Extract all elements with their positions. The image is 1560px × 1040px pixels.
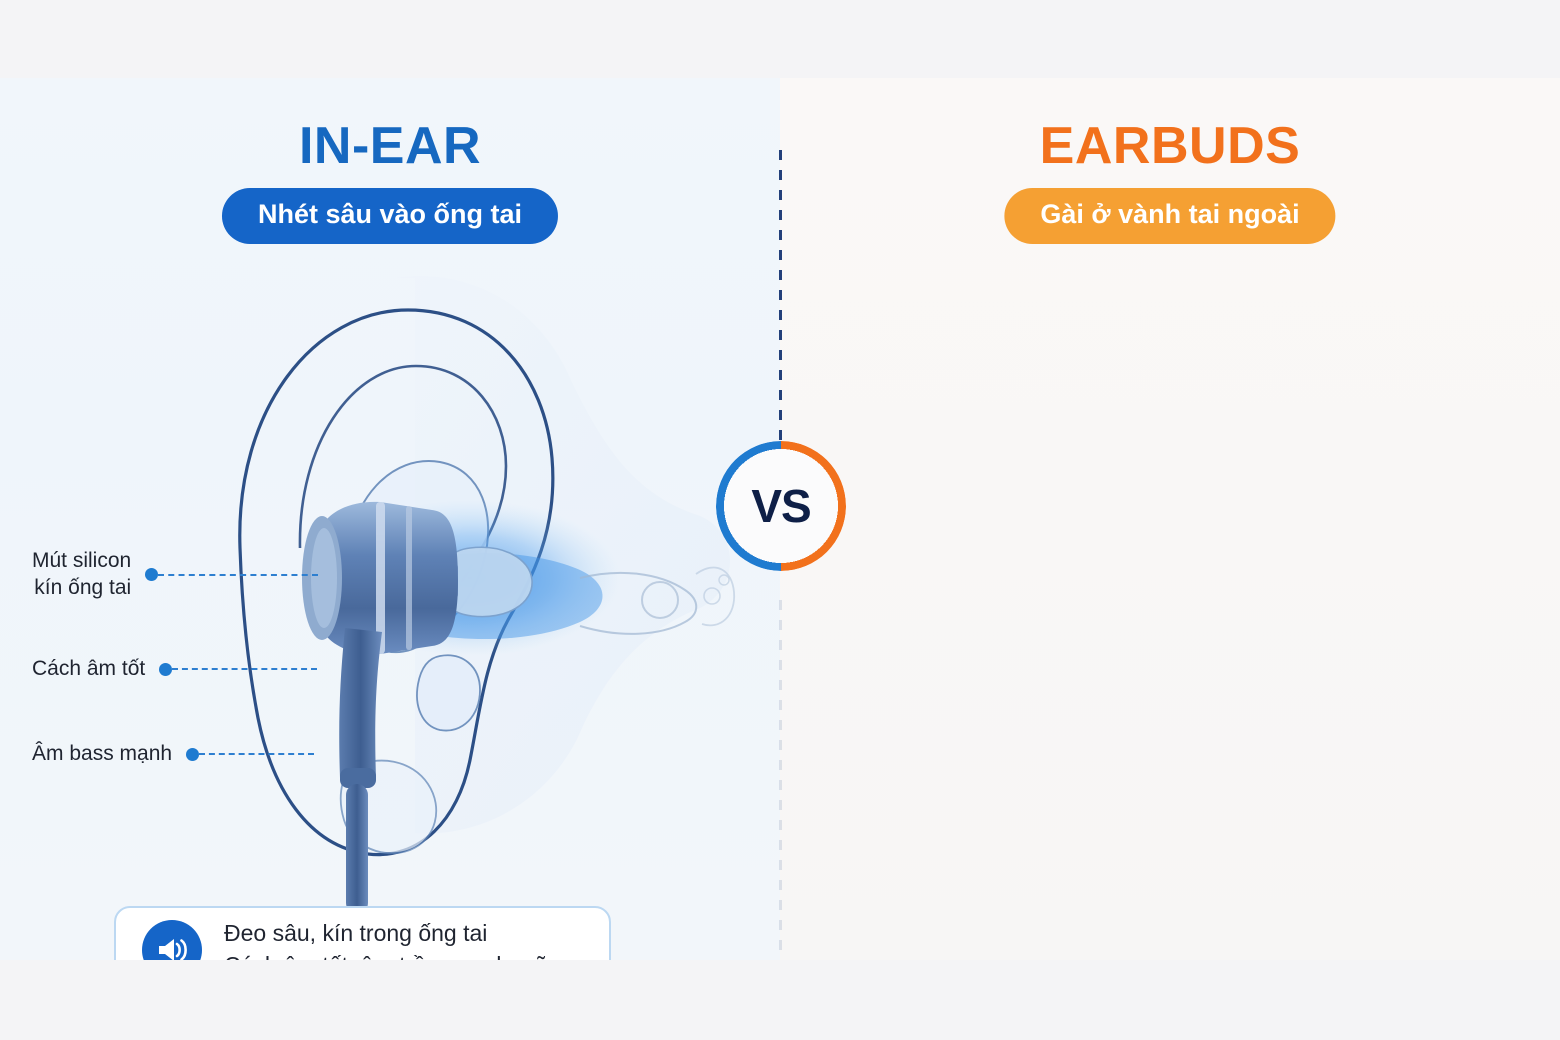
callout-leader-line xyxy=(172,668,317,670)
page-title-earbuds: EARBUDS xyxy=(780,120,1560,172)
callout-leader-line xyxy=(199,753,314,755)
panel-in-ear: IN-EAR Nhét sâu vào ống tai xyxy=(0,78,780,960)
callout-dot-icon xyxy=(145,568,158,581)
vertical-dashed-divider-upper xyxy=(779,150,782,450)
callout-label: Cách âm tốt xyxy=(32,656,145,683)
callout-label: Mút silicon kín ống tai xyxy=(32,548,131,602)
callout-strong-bass: Âm bass mạnh xyxy=(32,741,314,768)
vertical-dashed-divider-lower xyxy=(779,600,782,960)
callout-sound-isolation: Cách âm tốt xyxy=(32,656,317,683)
vs-badge: VS xyxy=(716,441,846,571)
callout-leader-line xyxy=(158,574,318,576)
panel-earbuds: EARBUDS Gài ở vành tai ngoài xyxy=(780,78,1560,960)
vs-label: VS xyxy=(751,479,810,533)
summary-box-in-ear: Đeo sâu, kín trong ống taiCách âm tốt, â… xyxy=(114,906,611,960)
callout-dot-icon xyxy=(159,663,172,676)
subtitle-badge-earbuds: Gài ở vành tai ngoài xyxy=(1004,188,1335,244)
summary-text: Đeo sâu, kín trong ống taiCách âm tốt, â… xyxy=(224,918,547,960)
callout-silicone-tip: Mút silicon kín ống tai xyxy=(32,548,318,602)
summary-line-1: Đeo sâu, kín trong ống tai xyxy=(224,920,487,946)
callout-label: Âm bass mạnh xyxy=(32,741,172,768)
infographic-stage: IN-EAR Nhét sâu vào ống tai xyxy=(0,0,1560,1040)
callout-dot-icon xyxy=(186,748,199,761)
page-title-in-ear: IN-EAR xyxy=(0,120,780,172)
speaker-icon xyxy=(142,920,202,960)
summary-line-2: Cách âm tốt, âm trầm mạnh mẽ xyxy=(224,952,547,960)
subtitle-badge-in-ear: Nhét sâu vào ống tai xyxy=(222,188,558,244)
